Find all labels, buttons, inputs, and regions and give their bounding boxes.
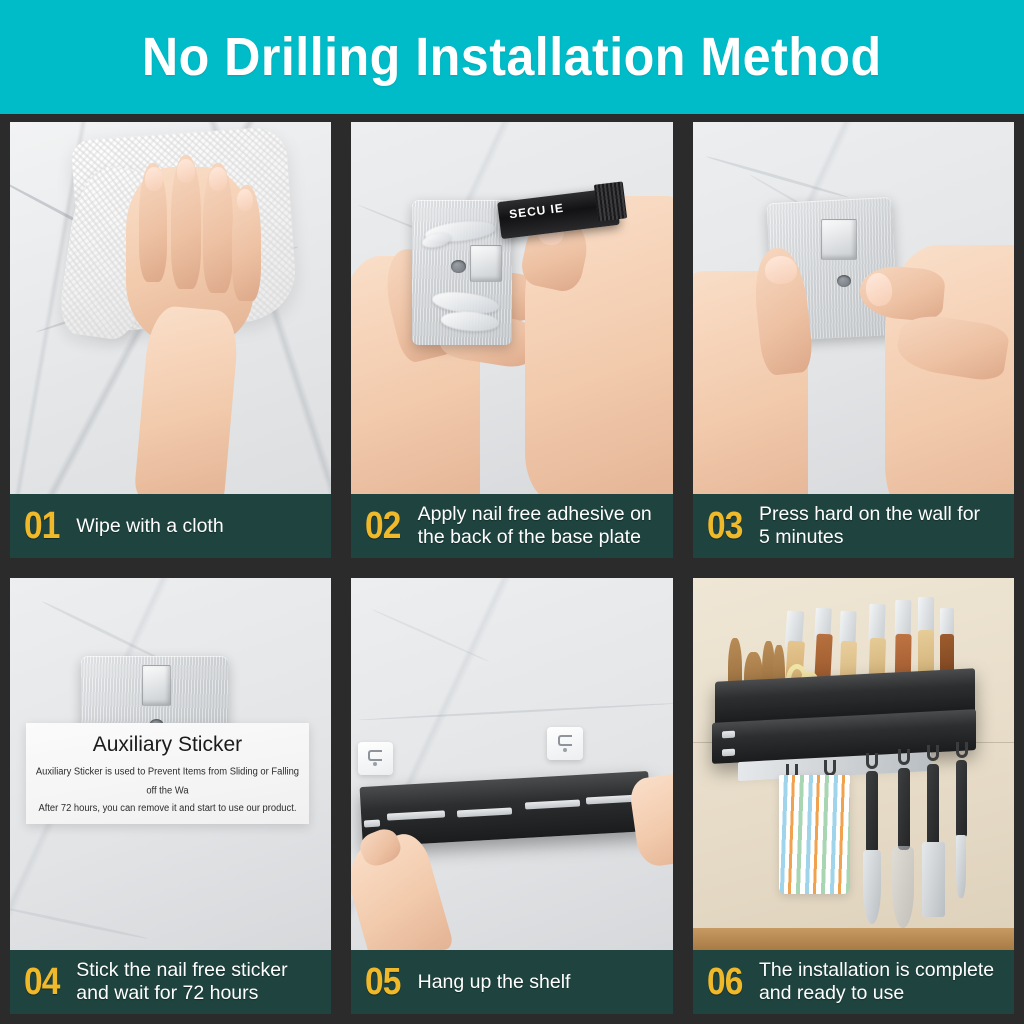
utensil-handle <box>956 760 967 838</box>
step-number: 03 <box>707 507 742 545</box>
knife-blade <box>869 604 886 642</box>
step-photo-02: SECU IE <box>351 122 672 494</box>
step-text-line1: Press hard on the wall for <box>759 503 1008 526</box>
step-card-03: 03 Press hard on the wall for 5 minutes <box>693 122 1014 558</box>
mount-hook-icon <box>558 735 572 746</box>
header-banner: No Drilling Installation Method <box>0 0 1024 114</box>
step-caption-03: 03 Press hard on the wall for 5 minutes <box>693 494 1014 558</box>
sticker-title: Auxiliary Sticker <box>34 733 301 757</box>
step-caption-06: 06 The installation is complete and read… <box>693 950 1014 1014</box>
tube-crimp-end <box>593 182 626 222</box>
step-caption-02: 02 Apply nail free adhesive on the back … <box>351 494 672 558</box>
step-photo-04: Auxiliary Sticker Auxiliary Sticker is u… <box>10 578 331 950</box>
utensil-knife <box>956 835 966 898</box>
step-description: Press hard on the wall for 5 minutes <box>759 503 1008 549</box>
mount-hole <box>563 748 567 752</box>
step-card-02: SECU IE 02 Apply nail free adhesive on t… <box>351 122 672 558</box>
step-text-line1: Hang up the shelf <box>418 971 571 993</box>
fingernail <box>765 256 797 284</box>
utensil-handle <box>927 764 939 846</box>
step-number: 01 <box>24 507 59 545</box>
sticker-line-1: Auxiliary Sticker is used to Prevent Ite… <box>34 762 301 800</box>
fingernail <box>237 189 253 211</box>
utensil-handle <box>866 771 878 853</box>
step-text-line2: and ready to use <box>759 982 1008 1005</box>
wooden-countertop <box>693 928 1014 950</box>
rack-hook <box>927 745 939 761</box>
rack-hook <box>866 753 878 769</box>
step-photo-01 <box>10 122 331 494</box>
rack-vent-slot <box>722 749 735 757</box>
step-caption-04: 04 Stick the nail free sticker and wait … <box>10 950 331 1014</box>
step-description: Stick the nail free sticker and wait for… <box>76 959 325 1005</box>
plate-hook-tab <box>142 665 171 706</box>
page-title: No Drilling Installation Method <box>142 26 882 88</box>
step-card-01: 01 Wipe with a cloth <box>10 122 331 558</box>
step-description: Apply nail free adhesive on the back of … <box>418 503 667 549</box>
knife-blade <box>895 600 912 637</box>
utensil-handle <box>898 768 910 850</box>
step-text-line2: and wait for 72 hours <box>76 982 325 1005</box>
knife-blade <box>918 597 934 634</box>
auxiliary-sticker: Auxiliary Sticker Auxiliary Sticker is u… <box>26 723 309 823</box>
fingernail <box>177 159 195 183</box>
step-card-04: Auxiliary Sticker Auxiliary Sticker is u… <box>10 578 331 1014</box>
steps-grid: 01 Wipe with a cloth <box>0 114 1024 1024</box>
step-description: Wipe with a cloth <box>76 515 325 538</box>
step-number: 05 <box>365 963 400 1001</box>
step-text-line1: Apply nail free adhesive on <box>418 503 667 526</box>
mount-hook-icon <box>368 750 382 761</box>
plate-screw-hole <box>451 260 466 273</box>
rack-vent-slot <box>722 730 735 738</box>
utensil-spatula <box>922 842 944 916</box>
step-text-line2: 5 minutes <box>759 526 1008 549</box>
sticker-line-2: After 72 hours, you can remove it and st… <box>34 798 301 817</box>
step-text-line2: the back of the base plate <box>418 526 667 549</box>
shelf-slot-end <box>364 819 380 827</box>
plate-hook-tab <box>470 245 502 282</box>
wall-mount-plate-right <box>547 727 582 760</box>
step-photo-03 <box>693 122 1014 494</box>
rack-hook <box>898 749 910 765</box>
utensil-ladle <box>863 850 881 924</box>
step-photo-06 <box>693 578 1014 950</box>
step-card-05: 05 Hang up the shelf <box>351 578 672 1014</box>
step-photo-05 <box>351 578 672 950</box>
step-card-06: 06 The installation is complete and read… <box>693 578 1014 1014</box>
rack-hook <box>824 760 836 776</box>
fingernail <box>145 167 163 191</box>
step-text-line1: The installation is complete <box>759 959 1008 982</box>
plate-hook-tab <box>821 219 856 260</box>
step-text-line1: Stick the nail free sticker <box>76 959 325 982</box>
hanging-towel <box>779 775 850 894</box>
step-text-line1: Wipe with a cloth <box>76 515 223 537</box>
wall-mount-plate-left <box>358 742 393 775</box>
step-number: 04 <box>24 963 59 1001</box>
rack-hook <box>956 742 968 758</box>
step-number: 06 <box>707 963 742 1001</box>
step-number: 02 <box>365 507 400 545</box>
step-description: Hang up the shelf <box>418 971 667 994</box>
mount-hole <box>373 762 377 766</box>
fingernail <box>209 167 227 191</box>
utensil-whisk <box>892 846 914 928</box>
plate-screw-hole <box>837 275 851 287</box>
step-caption-05: 05 Hang up the shelf <box>351 950 672 1014</box>
step-caption-01: 01 Wipe with a cloth <box>10 494 331 558</box>
step-description: The installation is complete and ready t… <box>759 959 1008 1005</box>
